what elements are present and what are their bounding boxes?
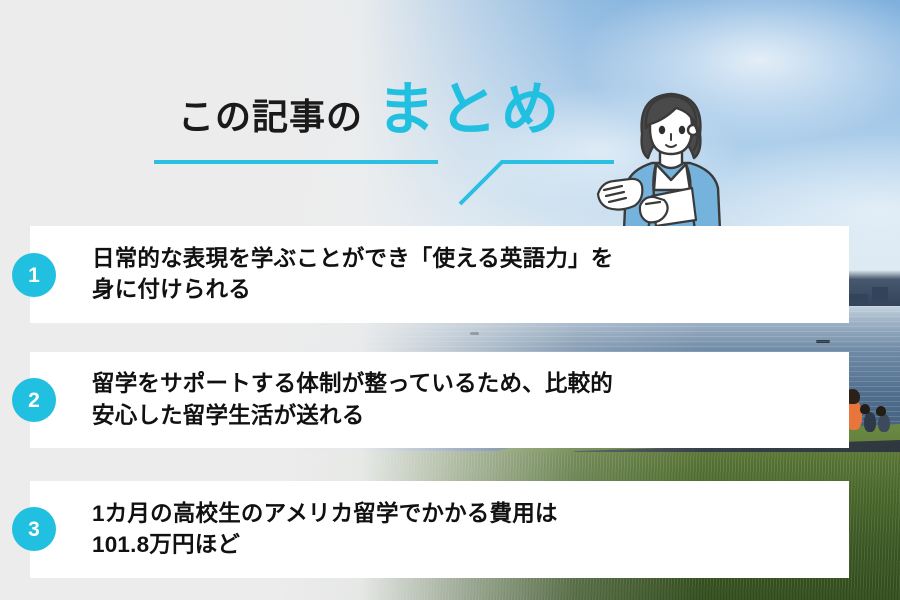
summary-card-line: 1カ月の高校生のアメリカ留学でかかる費用は xyxy=(92,498,558,530)
title-underline-rules xyxy=(148,148,628,218)
summary-number-badge: 2 xyxy=(12,378,56,422)
summary-card-line: 留学をサポートする体制が整っているため、比較的 xyxy=(92,368,613,400)
summary-card: 日常的な表現を学ぶことができ「使える英語力」を 身に付けられる xyxy=(30,226,849,323)
eye-right xyxy=(679,126,685,134)
summary-card-text: 1カ月の高校生のアメリカ留学でかかる費用は 101.8万円ほど xyxy=(92,498,558,562)
summary-number-badge: 3 xyxy=(12,507,56,551)
summary-infographic: この記事の まとめ xyxy=(0,0,900,600)
summary-card-line: 日常的な表現を学ぶことができ「使える英語力」を xyxy=(92,243,613,275)
summary-card-text: 留学をサポートする体制が整っているため、比較的 安心した留学生活が送れる xyxy=(92,368,613,432)
summary-card-line: 101.8万円ほど xyxy=(92,530,558,562)
page-title: この記事の まとめ xyxy=(178,82,563,140)
summary-card: 1カ月の高校生のアメリカ留学でかかる費用は 101.8万円ほど xyxy=(30,481,849,578)
open-hand xyxy=(598,179,642,210)
page-title-accent: まとめ xyxy=(377,82,563,137)
page-title-prefix: この記事の xyxy=(178,88,363,140)
summary-card: 留学をサポートする体制が整っているため、比較的 安心した留学生活が送れる xyxy=(30,352,849,448)
summary-card-text: 日常的な表現を学ぶことができ「使える英語力」を 身に付けられる xyxy=(92,243,613,307)
summary-card-line: 身に付けられる xyxy=(92,275,613,307)
holding-hand xyxy=(640,197,668,222)
eye-left xyxy=(659,126,665,134)
underline-stepped xyxy=(460,162,614,204)
summary-number-badge: 1 xyxy=(12,253,56,297)
presenter-woman-illustration xyxy=(596,78,746,230)
summary-card-line: 安心した留学生活が送れる xyxy=(92,400,613,432)
